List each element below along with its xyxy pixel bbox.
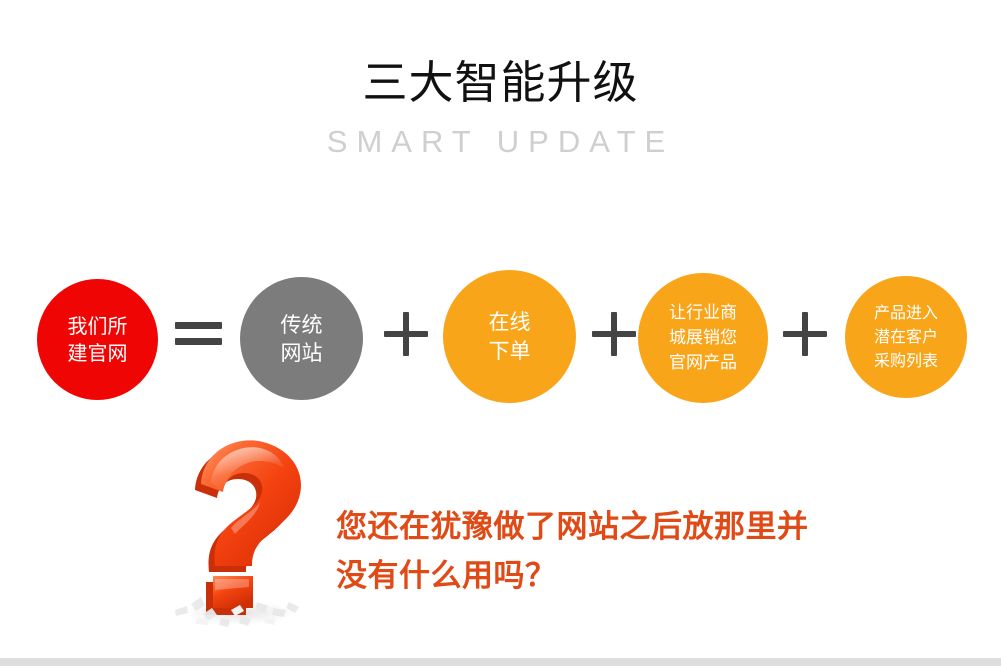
formula-node-label: 产品进入 潜在客户 采购列表: [874, 301, 938, 373]
header-block: 三大智能升级 SMART UPDATE: [0, 56, 1001, 160]
question-mark-icon: [145, 432, 345, 637]
formula-row: 我们所 建官网 传统 网站 在线 下单 让行业商 城展销您 官网产品 产品进入 …: [0, 262, 1001, 417]
formula-node-traditional-site: 传统 网站: [240, 277, 363, 400]
plus-icon: [384, 312, 428, 356]
page-subtitle: SMART UPDATE: [0, 124, 1001, 160]
formula-node-our-website: 我们所 建官网: [37, 279, 158, 400]
formula-node-industry-mall: 让行业商 城展销您 官网产品: [638, 273, 768, 403]
formula-node-label: 我们所 建官网: [68, 313, 128, 367]
equals-icon: [175, 322, 222, 346]
formula-node-label: 在线 下单: [489, 308, 531, 366]
formula-node-online-order: 在线 下单: [443, 270, 576, 403]
page-title: 三大智能升级: [0, 56, 1001, 110]
callout-text: 您还在犹豫做了网站之后放那里并 没有什么用吗？: [336, 503, 936, 601]
plus-icon: [592, 312, 636, 356]
bottom-divider: [0, 658, 1001, 666]
callout-line-1: 您还在犹豫做了网站之后放那里并: [336, 503, 936, 552]
plus-icon: [783, 312, 827, 356]
formula-node-buyer-list: 产品进入 潜在客户 采购列表: [845, 276, 967, 398]
callout-line-2: 没有什么用吗？: [336, 552, 936, 601]
formula-node-label: 传统 网站: [281, 311, 323, 367]
formula-node-label: 让行业商 城展销您 官网产品: [669, 301, 737, 376]
promo-banner: 三大智能升级 SMART UPDATE 我们所 建官网 传统 网站 在线 下单 …: [0, 0, 1001, 666]
